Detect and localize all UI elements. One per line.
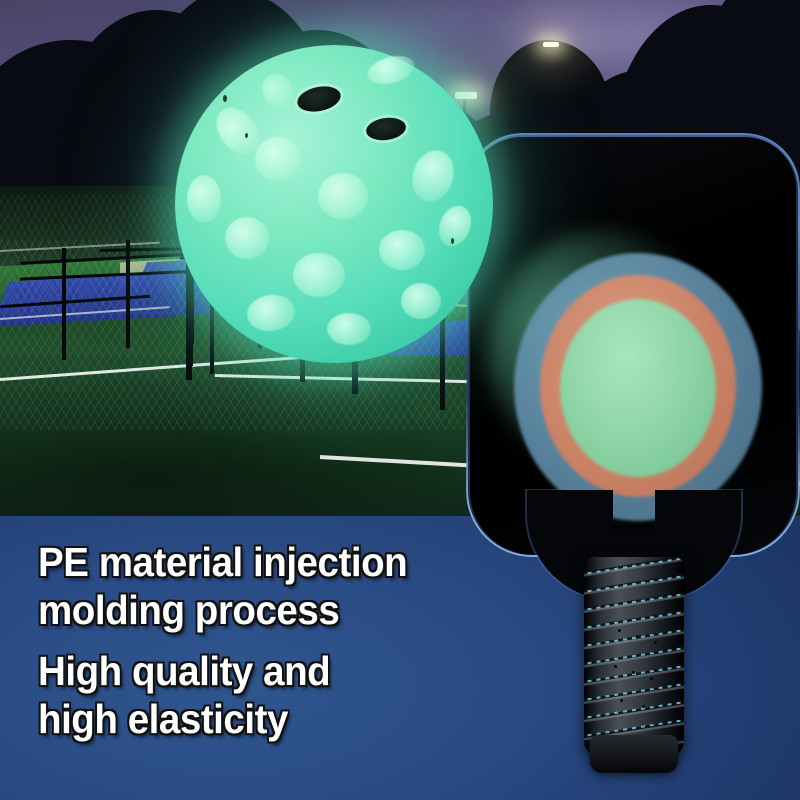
grip-perforation	[632, 671, 635, 674]
paddle-grip	[584, 557, 684, 757]
glowing-pickleball	[175, 45, 505, 375]
ball-dimple	[406, 145, 460, 207]
grip-perforation	[614, 665, 617, 668]
ball-speck	[451, 238, 454, 244]
headline-primary: PE material injection molding process	[38, 538, 527, 634]
ball-hole	[295, 83, 343, 116]
grip-perforation	[654, 641, 657, 644]
court-floodlight	[543, 42, 559, 47]
ball-body	[175, 45, 493, 363]
grip-perforation	[618, 629, 621, 632]
ball-dimple	[433, 201, 477, 251]
grip-perforation	[636, 635, 639, 638]
ball-dimple	[401, 283, 441, 319]
grip-end-cap	[590, 735, 678, 773]
ball-dimple	[256, 68, 300, 114]
grip-perforation	[620, 699, 623, 702]
light-pole	[551, 46, 554, 112]
ball-dimple	[255, 137, 301, 181]
headline-secondary: High quality and high elasticity	[38, 647, 527, 743]
ball-dimple	[293, 253, 345, 297]
product-banner: PE material injection molding process Hi…	[0, 0, 800, 800]
ball-dimple	[245, 292, 298, 334]
pickleball-paddle	[460, 135, 800, 800]
ball-dimple	[225, 217, 269, 259]
ball-dimple	[187, 175, 221, 223]
ball-hole	[365, 115, 408, 142]
grip-perforation	[642, 705, 645, 708]
grip-perforation	[650, 677, 653, 680]
ball-dimple	[379, 230, 425, 270]
ball-dimple	[364, 51, 417, 89]
impact-ring-inner	[560, 299, 716, 477]
paddle-face	[468, 135, 798, 555]
ball-dimple	[318, 173, 368, 219]
ball-dimple	[327, 313, 371, 345]
ball-speck	[223, 95, 227, 102]
fence-post	[62, 248, 66, 360]
ball-speck	[245, 133, 248, 138]
